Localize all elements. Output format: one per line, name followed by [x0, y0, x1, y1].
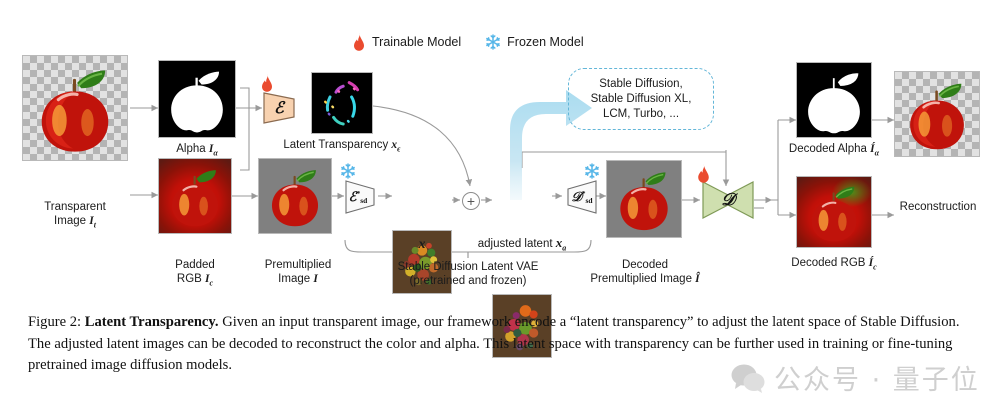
latent-transparency-tile [311, 72, 373, 134]
sd-family-line3: LCM, Turbo, ... [603, 107, 679, 122]
legend-label-trainable: Trainable Model [372, 35, 461, 49]
sd-family-line1: Stable Diffusion, [599, 77, 683, 92]
figure-caption: Figure 2: Latent Transparency. Given an … [28, 312, 974, 377]
plus-glyph: + [467, 193, 475, 209]
snowflake-icon [340, 163, 356, 179]
premultiplied-image-tile [258, 158, 332, 234]
snowflake-icon [584, 163, 600, 179]
padded-rgb-label: Padded RGB Ic [140, 258, 250, 290]
apple-illustration [159, 159, 231, 233]
decoded-rgb-label: Decoded RGB Íc [774, 256, 894, 274]
sd-encoder-block[interactable]: ℰ*sd [344, 178, 380, 216]
encoder-transparency-block[interactable]: ℰ [262, 88, 302, 128]
transparent-image-tile [22, 55, 128, 161]
sd-family-line2: Stable Diffusion XL, [591, 92, 692, 107]
decoded-rgb-tile [796, 176, 872, 248]
padded-rgb-tile [158, 158, 232, 234]
sd-encoder-glyph: ℰ*sd [340, 178, 376, 216]
reconstruction-tile [894, 71, 980, 157]
decoded-alpha-mask-icon [797, 63, 871, 137]
latent-x-label: x [392, 236, 452, 252]
add-operator: + [462, 192, 480, 210]
flame-icon [352, 33, 366, 51]
flame-icon [260, 74, 274, 92]
apple-illustration [895, 72, 979, 156]
decoded-alpha-label: Decoded Alpha Íα [776, 142, 892, 160]
decoder-transparency-block[interactable]: 𝒟 [700, 176, 756, 224]
encoder-glyph: ℰ [259, 88, 299, 128]
transparent-image-label: Transparent Image It [22, 200, 128, 232]
decoded-premultiplied-label: Decoded Premultiplied Image Î [578, 258, 712, 286]
decoded-premultiplied-tile [606, 160, 682, 238]
apple-illustration [23, 56, 127, 160]
caption-prefix: Figure 2: [28, 314, 85, 330]
legend: Trainable Model Frozen Model [352, 33, 584, 51]
latent-noise-pattern [312, 73, 372, 133]
adjusted-latent-label: adjusted latent xa [452, 236, 592, 256]
sd-family-box: Stable Diffusion, Stable Diffusion XL, L… [568, 68, 714, 130]
vae-group-label: Stable Diffusion Latent VAE (pretrained … [356, 260, 580, 288]
decoded-alpha-tile [796, 62, 872, 138]
figure-diagram: Trainable Model Frozen Model [0, 0, 1000, 300]
latent-transparency-label: Latent Transparency xϵ [262, 138, 422, 156]
sd-decoder-glyph: 𝒟*sd [564, 178, 600, 216]
caption-title: Latent Transparency. [85, 314, 219, 330]
reconstruction-label: Reconstruction [890, 200, 986, 214]
alpha-tile [158, 60, 236, 138]
apple-illustration [259, 159, 331, 233]
apple-illustration [607, 161, 681, 237]
decoder-glyph: 𝒟 [700, 176, 756, 224]
alpha-mask-icon [159, 61, 235, 137]
premultiplied-image-label: Premultiplied Image I [240, 258, 356, 286]
sd-decoder-block[interactable]: 𝒟*sd [562, 178, 598, 216]
flame-icon [696, 164, 711, 183]
legend-item-frozen: Frozen Model [485, 34, 583, 50]
snowflake-icon [485, 34, 501, 50]
legend-label-frozen: Frozen Model [507, 35, 583, 49]
apple-illustration [797, 177, 871, 247]
legend-item-trainable: Trainable Model [352, 33, 461, 51]
